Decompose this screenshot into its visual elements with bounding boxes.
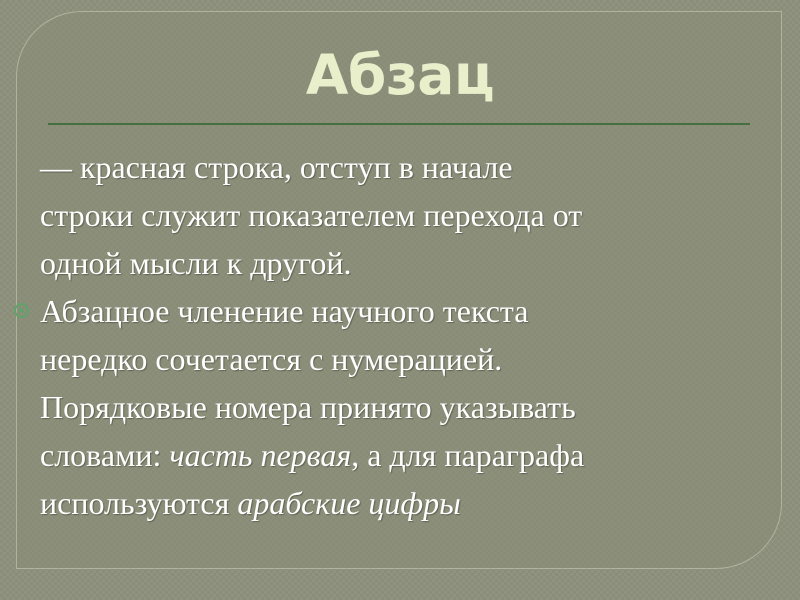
body-paragraph-rich: Порядковые номера принято указывать слов… [40,383,760,527]
body-line: одной мысли к другой. [40,239,760,287]
presentation-slide: Абзац — красная строка, отступ в начале … [0,0,800,600]
body-line-mixed: используются арабские цифры [40,479,760,527]
body-text-plain: используются [40,485,237,521]
body-paragraph: — красная строка, отступ в начале строки… [40,143,760,287]
body-line: Порядковые номера принято указывать [40,383,760,431]
body-text-plain: словами: [40,437,169,473]
body-line: Абзацное членение научного текста [40,287,760,335]
body-paragraph-bulleted: Абзацное членение научного текста нередк… [40,287,760,383]
body-text-italic: арабские цифры [237,485,460,521]
slide-body: — красная строка, отступ в начале строки… [40,143,760,527]
page-title: Абзац [48,44,752,106]
body-text-italic: часть первая [169,437,351,473]
body-line-mixed: словами: часть первая, а для параграфа [40,431,760,479]
ring-bullet-icon [14,303,29,318]
body-line: строки служит показателем перехода от [40,191,760,239]
title-divider [48,123,750,125]
body-text-plain: , а для параграфа [351,437,584,473]
body-line: — красная строка, отступ в начале [40,143,760,191]
body-line: нередко сочетается с нумерацией. [40,335,760,383]
